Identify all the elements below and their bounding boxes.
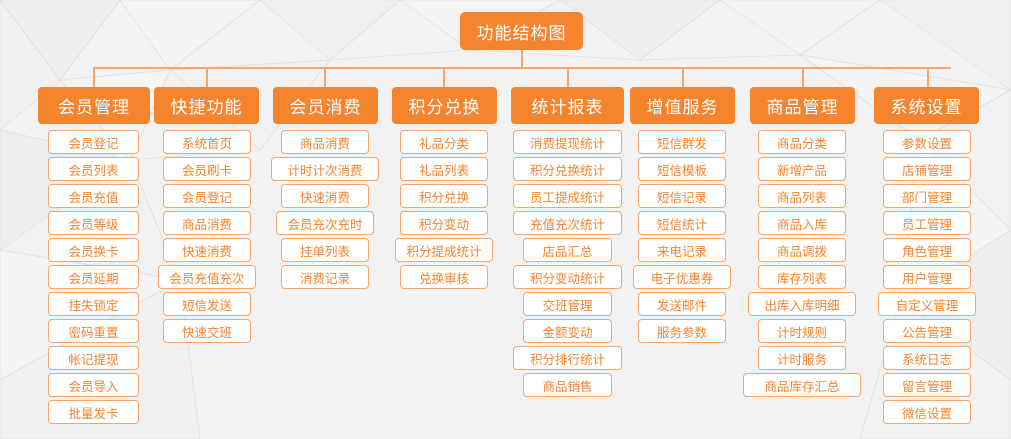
leaf-4-4-label: 店品汇总 xyxy=(542,241,592,260)
connector-to-column-6 xyxy=(802,67,804,87)
leaf-4-3[interactable]: 充值充次统计 xyxy=(513,211,622,235)
leaf-4-1[interactable]: 积分兑换统计 xyxy=(513,157,622,181)
connector-to-column-4 xyxy=(567,67,569,87)
leaf-2-2[interactable]: 快速消费 xyxy=(281,184,369,208)
leaf-7-1[interactable]: 店铺管理 xyxy=(883,157,971,181)
leaf-7-8[interactable]: 系统日志 xyxy=(883,346,971,370)
leaf-0-8[interactable]: 帐记提现 xyxy=(48,346,139,370)
leaf-0-8-label: 帐记提现 xyxy=(68,349,118,368)
leaf-1-0[interactable]: 系统首页 xyxy=(163,130,251,154)
leaf-4-6-label: 交班管理 xyxy=(542,295,592,314)
leaf-6-2[interactable]: 商品列表 xyxy=(758,184,846,208)
leaf-4-2-label: 员工提成统计 xyxy=(530,187,605,206)
leaf-7-3[interactable]: 员工管理 xyxy=(883,211,971,235)
column-head-6-label: 商品管理 xyxy=(767,93,839,118)
leaf-0-3[interactable]: 会员等级 xyxy=(48,211,139,235)
column-head-5-label: 增值服务 xyxy=(647,93,719,118)
leaf-6-8[interactable]: 计时服务 xyxy=(758,346,846,370)
leaf-2-4-label: 挂单列表 xyxy=(300,241,350,260)
root-node-label: 功能结构图 xyxy=(477,19,567,44)
leaf-5-3[interactable]: 短信统计 xyxy=(638,211,726,235)
leaf-7-1-label: 店铺管理 xyxy=(902,160,952,179)
leaf-4-7[interactable]: 金额变动 xyxy=(523,319,612,343)
leaf-4-6[interactable]: 交班管理 xyxy=(523,292,612,316)
leaf-7-7-label: 公告管理 xyxy=(902,322,952,341)
leaf-6-7[interactable]: 计时规则 xyxy=(758,319,846,343)
column-head-1[interactable]: 快捷功能 xyxy=(154,87,259,124)
column-head-2-label: 会员消费 xyxy=(290,93,362,118)
leaf-0-9-label: 会员导入 xyxy=(68,376,118,395)
leaf-3-1-label: 礼品列表 xyxy=(419,160,469,179)
leaf-5-7[interactable]: 服务参数 xyxy=(638,319,726,343)
leaf-3-4-label: 积分提成统计 xyxy=(406,241,481,260)
leaf-2-3-label: 会员充次充时 xyxy=(287,214,362,233)
column-head-1-label: 快捷功能 xyxy=(171,93,243,118)
leaf-6-8-label: 计时服务 xyxy=(777,349,827,368)
leaf-0-1[interactable]: 会员列表 xyxy=(48,157,139,181)
leaf-6-7-label: 计时规则 xyxy=(777,322,827,341)
leaf-6-9[interactable]: 商品库存汇总 xyxy=(743,373,861,397)
leaf-2-5-label: 消费记录 xyxy=(300,268,350,287)
leaf-1-7[interactable]: 快速交班 xyxy=(163,319,251,343)
leaf-7-6[interactable]: 自定义管理 xyxy=(878,292,976,316)
leaf-1-1-label: 会员刷卡 xyxy=(182,160,232,179)
leaf-7-6-label: 自定义管理 xyxy=(896,295,959,314)
leaf-6-3-label: 商品入库 xyxy=(777,214,827,233)
column-head-4-label: 统计报表 xyxy=(532,93,604,118)
leaf-2-1[interactable]: 计时计次消费 xyxy=(271,157,379,181)
leaf-0-5-label: 会员延期 xyxy=(68,268,118,287)
leaf-3-2[interactable]: 积分兑换 xyxy=(400,184,488,208)
leaf-6-5[interactable]: 库存列表 xyxy=(758,265,846,289)
leaf-6-3[interactable]: 商品入库 xyxy=(758,211,846,235)
connector-to-column-7 xyxy=(927,67,929,87)
leaf-5-0-label: 短信群发 xyxy=(657,133,707,152)
leaf-7-2-label: 部门管理 xyxy=(902,187,952,206)
leaf-0-7[interactable]: 密码重置 xyxy=(48,319,139,343)
leaf-6-6-label: 出库入库明细 xyxy=(764,295,839,314)
column-head-0[interactable]: 会员管理 xyxy=(38,87,150,124)
leaf-4-9-label: 商品销售 xyxy=(542,376,592,395)
leaf-0-10-label: 批量发卡 xyxy=(68,403,118,422)
column-head-3[interactable]: 积分兑换 xyxy=(392,87,497,124)
leaf-7-7[interactable]: 公告管理 xyxy=(883,319,971,343)
leaf-4-8-label: 积分排行统计 xyxy=(530,349,605,368)
leaf-7-8-label: 系统日志 xyxy=(902,349,952,368)
leaf-4-2[interactable]: 员工提成统计 xyxy=(513,184,622,208)
root-node[interactable]: 功能结构图 xyxy=(460,12,583,50)
leaf-3-0-label: 礼品分类 xyxy=(419,133,469,152)
leaf-5-4[interactable]: 来电记录 xyxy=(638,238,726,262)
leaf-1-4-label: 快速消费 xyxy=(182,241,232,260)
leaf-0-4[interactable]: 会员换卡 xyxy=(48,238,139,262)
leaf-4-5[interactable]: 积分变动统计 xyxy=(513,265,622,289)
leaf-3-5-label: 兑换审核 xyxy=(419,268,469,287)
leaf-5-1-label: 短信模板 xyxy=(657,160,707,179)
leaf-2-5[interactable]: 消费记录 xyxy=(281,265,369,289)
leaf-2-4[interactable]: 挂单列表 xyxy=(281,238,369,262)
leaf-1-3-label: 商品消费 xyxy=(182,214,232,233)
leaf-4-1-label: 积分兑换统计 xyxy=(530,160,605,179)
connector-to-column-5 xyxy=(682,67,684,87)
leaf-1-3[interactable]: 商品消费 xyxy=(163,211,251,235)
leaf-0-4-label: 会员换卡 xyxy=(68,241,118,260)
leaf-3-5[interactable]: 兑换审核 xyxy=(400,265,488,289)
connector-to-column-2 xyxy=(324,67,326,87)
leaf-6-6[interactable]: 出库入库明细 xyxy=(748,292,856,316)
leaf-6-1-label: 新增产品 xyxy=(777,160,827,179)
leaf-1-2[interactable]: 会员登记 xyxy=(163,184,251,208)
leaf-0-5[interactable]: 会员延期 xyxy=(48,265,139,289)
leaf-6-9-label: 商品库存汇总 xyxy=(764,376,839,395)
leaf-4-0[interactable]: 消费提现统计 xyxy=(513,130,622,154)
connector-horizontal-bus xyxy=(93,67,951,69)
leaf-0-9[interactable]: 会员导入 xyxy=(48,373,139,397)
leaf-0-0-label: 会员登记 xyxy=(68,133,118,152)
leaf-0-10[interactable]: 批量发卡 xyxy=(48,400,139,424)
leaf-7-4[interactable]: 角色管理 xyxy=(883,238,971,262)
leaf-2-2-label: 快速消费 xyxy=(300,187,350,206)
leaf-1-5-label: 会员充值充次 xyxy=(169,268,244,287)
leaf-5-6[interactable]: 发送邮件 xyxy=(638,292,726,316)
leaf-6-4[interactable]: 商品调拨 xyxy=(758,238,846,262)
leaf-5-1[interactable]: 短信模板 xyxy=(638,157,726,181)
leaf-4-0-label: 消费提现统计 xyxy=(530,133,605,152)
column-head-6[interactable]: 商品管理 xyxy=(750,87,855,124)
leaf-0-3-label: 会员等级 xyxy=(68,214,118,233)
leaf-5-0[interactable]: 短信群发 xyxy=(638,130,726,154)
column-head-0-label: 会员管理 xyxy=(58,93,130,118)
leaf-1-7-label: 快速交班 xyxy=(182,322,232,341)
leaf-3-3[interactable]: 积分变动 xyxy=(400,211,488,235)
leaf-7-9[interactable]: 留言管理 xyxy=(883,373,971,397)
column-head-5[interactable]: 增值服务 xyxy=(630,87,735,124)
leaf-7-4-label: 角色管理 xyxy=(902,241,952,260)
leaf-6-5-label: 库存列表 xyxy=(777,268,827,287)
leaf-4-7-label: 金额变动 xyxy=(542,322,592,341)
leaf-6-1[interactable]: 新增产品 xyxy=(758,157,846,181)
leaf-6-2-label: 商品列表 xyxy=(777,187,827,206)
leaf-2-0-label: 商品消费 xyxy=(300,133,350,152)
leaf-0-6[interactable]: 挂失锁定 xyxy=(48,292,139,316)
leaf-1-6-label: 短信发送 xyxy=(182,295,232,314)
leaf-0-2-label: 会员充值 xyxy=(68,187,118,206)
leaf-0-6-label: 挂失锁定 xyxy=(68,295,118,314)
leaf-2-1-label: 计时计次消费 xyxy=(287,160,362,179)
leaf-7-10[interactable]: 微信设置 xyxy=(883,400,971,424)
leaf-3-0[interactable]: 礼品分类 xyxy=(400,130,488,154)
leaf-4-8[interactable]: 积分排行统计 xyxy=(513,346,622,370)
leaf-1-6[interactable]: 短信发送 xyxy=(163,292,251,316)
leaf-4-5-label: 积分变动统计 xyxy=(530,268,605,287)
leaf-5-6-label: 发送邮件 xyxy=(657,295,707,314)
leaf-5-2[interactable]: 短信记录 xyxy=(638,184,726,208)
leaf-2-0[interactable]: 商品消费 xyxy=(281,130,369,154)
leaf-6-0-label: 商品分类 xyxy=(777,133,827,152)
leaf-7-2[interactable]: 部门管理 xyxy=(883,184,971,208)
leaf-0-1-label: 会员列表 xyxy=(68,160,118,179)
leaf-3-2-label: 积分兑换 xyxy=(419,187,469,206)
leaf-1-2-label: 会员登记 xyxy=(182,187,232,206)
column-head-3-label: 积分兑换 xyxy=(409,93,481,118)
leaf-4-4[interactable]: 店品汇总 xyxy=(523,238,612,262)
connector-root-vertical xyxy=(521,50,523,68)
leaf-7-0-label: 参数设置 xyxy=(902,133,952,152)
column-head-7[interactable]: 系统设置 xyxy=(874,87,979,124)
leaf-7-0[interactable]: 参数设置 xyxy=(883,130,971,154)
leaf-0-7-label: 密码重置 xyxy=(68,322,118,341)
leaf-1-1[interactable]: 会员刷卡 xyxy=(163,157,251,181)
leaf-0-2[interactable]: 会员充值 xyxy=(48,184,139,208)
leaf-4-9[interactable]: 商品销售 xyxy=(523,373,612,397)
leaf-0-0[interactable]: 会员登记 xyxy=(48,130,139,154)
leaf-4-3-label: 充值充次统计 xyxy=(530,214,605,233)
column-head-7-label: 系统设置 xyxy=(891,93,963,118)
leaf-3-3-label: 积分变动 xyxy=(419,214,469,233)
leaf-5-4-label: 来电记录 xyxy=(657,241,707,260)
leaf-7-5[interactable]: 用户管理 xyxy=(883,265,971,289)
leaf-3-4[interactable]: 积分提成统计 xyxy=(395,238,493,262)
leaf-5-5[interactable]: 电子优惠券 xyxy=(633,265,731,289)
leaf-6-4-label: 商品调拨 xyxy=(777,241,827,260)
column-head-2[interactable]: 会员消费 xyxy=(273,87,378,124)
leaf-5-2-label: 短信记录 xyxy=(657,187,707,206)
connector-to-column-3 xyxy=(443,67,445,87)
leaf-6-0[interactable]: 商品分类 xyxy=(758,130,846,154)
leaf-7-9-label: 留言管理 xyxy=(902,376,952,395)
leaf-7-5-label: 用户管理 xyxy=(902,268,952,287)
connector-to-column-1 xyxy=(206,67,208,87)
leaf-2-3[interactable]: 会员充次充时 xyxy=(276,211,374,235)
leaf-5-7-label: 服务参数 xyxy=(657,322,707,341)
leaf-7-10-label: 微信设置 xyxy=(902,403,952,422)
leaf-1-0-label: 系统首页 xyxy=(182,133,232,152)
function-structure-diagram: 功能结构图 会员管理 会员登记 会员列表 会员充值 会员等级 会员换卡 会员延期… xyxy=(0,0,1011,439)
leaf-3-1[interactable]: 礼品列表 xyxy=(400,157,488,181)
leaf-5-3-label: 短信统计 xyxy=(657,214,707,233)
column-head-4[interactable]: 统计报表 xyxy=(511,87,624,124)
leaf-5-5-label: 电子优惠券 xyxy=(651,268,714,287)
leaf-1-5[interactable]: 会员充值充次 xyxy=(158,265,256,289)
leaf-7-3-label: 员工管理 xyxy=(902,214,952,233)
connector-to-column-0 xyxy=(93,67,95,87)
leaf-1-4[interactable]: 快速消费 xyxy=(163,238,251,262)
